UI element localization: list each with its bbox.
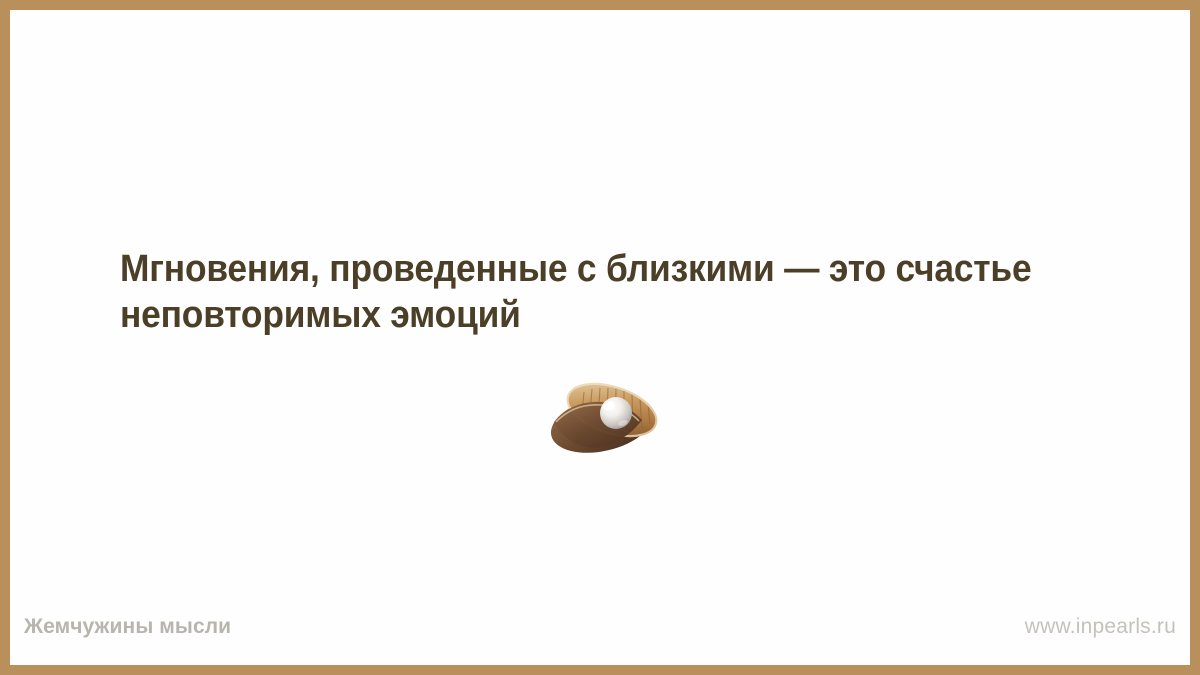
- quote-card: Мгновения, проведенные с близкими — это …: [0, 0, 1200, 675]
- site-name: Жемчужины мысли: [24, 615, 231, 639]
- oyster-shell-with-pearl-icon: [544, 380, 676, 456]
- footer: Жемчужины мысли www.inpearls.ru: [10, 613, 1190, 641]
- site-url[interactable]: www.inpearls.ru: [1025, 615, 1176, 639]
- quote-block: Мгновения, проведенные с близкими — это …: [120, 246, 1110, 338]
- quote-text: Мгновения, проведенные с близкими — это …: [120, 246, 1041, 338]
